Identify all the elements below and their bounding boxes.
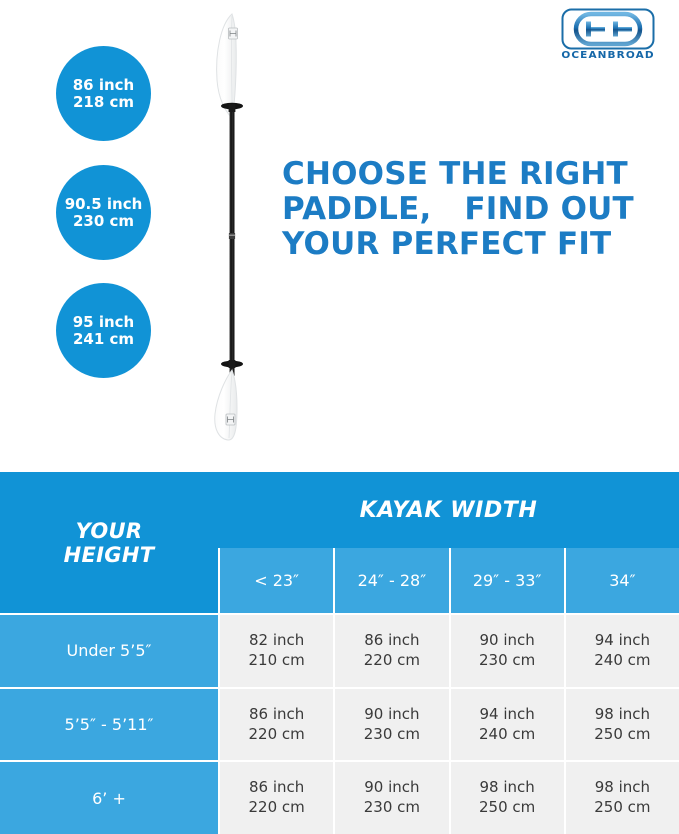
oceanbroad-logo-icon — [561, 8, 655, 50]
table-cell: 86 inch 220 cm — [218, 687, 333, 761]
cell-inch: 98 inch — [479, 778, 534, 798]
size-badge-inch: 86 inch — [73, 77, 135, 94]
cell-inch: 90 inch — [364, 778, 419, 798]
table-cell: 86 inch 220 cm — [333, 613, 448, 687]
table-row: 5’5″ - 5’11″ 86 inch 220 cm 90 inch 230 … — [0, 687, 679, 761]
table-cell: 94 inch 240 cm — [564, 613, 679, 687]
page-title-line-1: CHOOSE THE RIGHT — [282, 157, 672, 192]
cell-cm: 250 cm — [479, 798, 535, 818]
size-badge-0: 86 inch 218 cm — [56, 46, 151, 141]
cell-inch: 86 inch — [249, 705, 304, 725]
row-cells-1: 86 inch 220 cm 90 inch 230 cm 94 inch 24… — [218, 687, 679, 761]
your-height-line-1: YOUR — [64, 519, 155, 543]
table-cell: 90 inch 230 cm — [333, 687, 448, 761]
table-cell: 98 inch 250 cm — [449, 760, 564, 834]
cell-cm: 240 cm — [479, 725, 535, 745]
column-header-3: 34″ — [564, 548, 679, 613]
table-row: 6’ + 86 inch 220 cm 90 inch 230 cm 98 in… — [0, 760, 679, 834]
table-corner-your-height: YOUR HEIGHT — [0, 472, 218, 613]
paddle-size-chart-page: OCEANBROAD 86 inch 218 cm 90.5 inch 230 … — [0, 0, 679, 834]
cell-cm: 220 cm — [364, 651, 420, 671]
table-cell: 98 inch 250 cm — [564, 687, 679, 761]
cell-cm: 210 cm — [248, 651, 304, 671]
row-label-2: 6’ + — [0, 760, 218, 834]
column-header-0: < 23″ — [218, 548, 333, 613]
cell-cm: 230 cm — [364, 798, 420, 818]
paddle-blade-bottom — [215, 370, 237, 440]
page-title-line-3: YOUR PERFECT FIT — [282, 227, 672, 262]
cell-inch: 98 inch — [595, 778, 650, 798]
cell-cm: 250 cm — [594, 798, 650, 818]
brand-logo-text: OCEANBROAD — [553, 49, 663, 60]
size-badge-cm: 230 cm — [73, 213, 134, 230]
row-cells-2: 86 inch 220 cm 90 inch 230 cm 98 inch 25… — [218, 760, 679, 834]
cell-cm: 240 cm — [594, 651, 650, 671]
paddle-shaft — [230, 104, 235, 376]
cell-inch: 98 inch — [595, 705, 650, 725]
cell-cm: 220 cm — [248, 725, 304, 745]
size-badge-2: 95 inch 241 cm — [56, 283, 151, 378]
cell-cm: 230 cm — [364, 725, 420, 745]
kayak-paddle-image — [185, 8, 281, 448]
cell-inch: 82 inch — [249, 631, 304, 651]
size-badge-inch: 90.5 inch — [65, 196, 143, 213]
cell-inch: 86 inch — [364, 631, 419, 651]
column-headers-row: < 23″ 24″ - 28″ 29″ - 33″ 34″ — [218, 548, 679, 613]
table-header: YOUR HEIGHT KAYAK WIDTH < 23″ 24″ - 28″ … — [0, 472, 679, 613]
table-cell: 82 inch 210 cm — [218, 613, 333, 687]
cell-inch: 94 inch — [479, 705, 534, 725]
paddle-size-table: YOUR HEIGHT KAYAK WIDTH < 23″ 24″ - 28″ … — [0, 472, 679, 834]
size-badge-1: 90.5 inch 230 cm — [56, 165, 151, 260]
cell-cm: 220 cm — [248, 798, 304, 818]
table-header-right: KAYAK WIDTH < 23″ 24″ - 28″ 29″ - 33″ 34… — [218, 472, 679, 613]
cell-inch: 90 inch — [479, 631, 534, 651]
row-label-0: Under 5’5″ — [0, 613, 218, 687]
table-cell: 98 inch 250 cm — [564, 760, 679, 834]
row-cells-0: 82 inch 210 cm 86 inch 220 cm 90 inch 23… — [218, 613, 679, 687]
column-header-1: 24″ - 28″ — [333, 548, 448, 613]
cell-inch: 94 inch — [595, 631, 650, 651]
brand-logo: OCEANBROAD — [553, 8, 663, 64]
table-cell: 90 inch 230 cm — [333, 760, 448, 834]
page-title: CHOOSE THE RIGHT PADDLE, FIND OUT YOUR P… — [282, 157, 672, 262]
table-cell: 90 inch 230 cm — [449, 613, 564, 687]
table-row: Under 5’5″ 82 inch 210 cm 86 inch 220 cm… — [0, 613, 679, 687]
table-cell: 94 inch 240 cm — [449, 687, 564, 761]
size-badge-cm: 241 cm — [73, 331, 134, 348]
cell-cm: 230 cm — [479, 651, 535, 671]
cell-cm: 250 cm — [594, 725, 650, 745]
size-badge-cm: 218 cm — [73, 94, 134, 111]
row-label-1: 5’5″ - 5’11″ — [0, 687, 218, 761]
table-cell: 86 inch 220 cm — [218, 760, 333, 834]
size-badge-inch: 95 inch — [73, 314, 135, 331]
page-title-line-2: PADDLE, FIND OUT — [282, 192, 672, 227]
cell-inch: 86 inch — [249, 778, 304, 798]
column-header-2: 29″ - 33″ — [449, 548, 564, 613]
column-group-kayak-width: KAYAK WIDTH — [218, 472, 679, 548]
your-height-line-2: HEIGHT — [64, 543, 155, 567]
cell-inch: 90 inch — [364, 705, 419, 725]
